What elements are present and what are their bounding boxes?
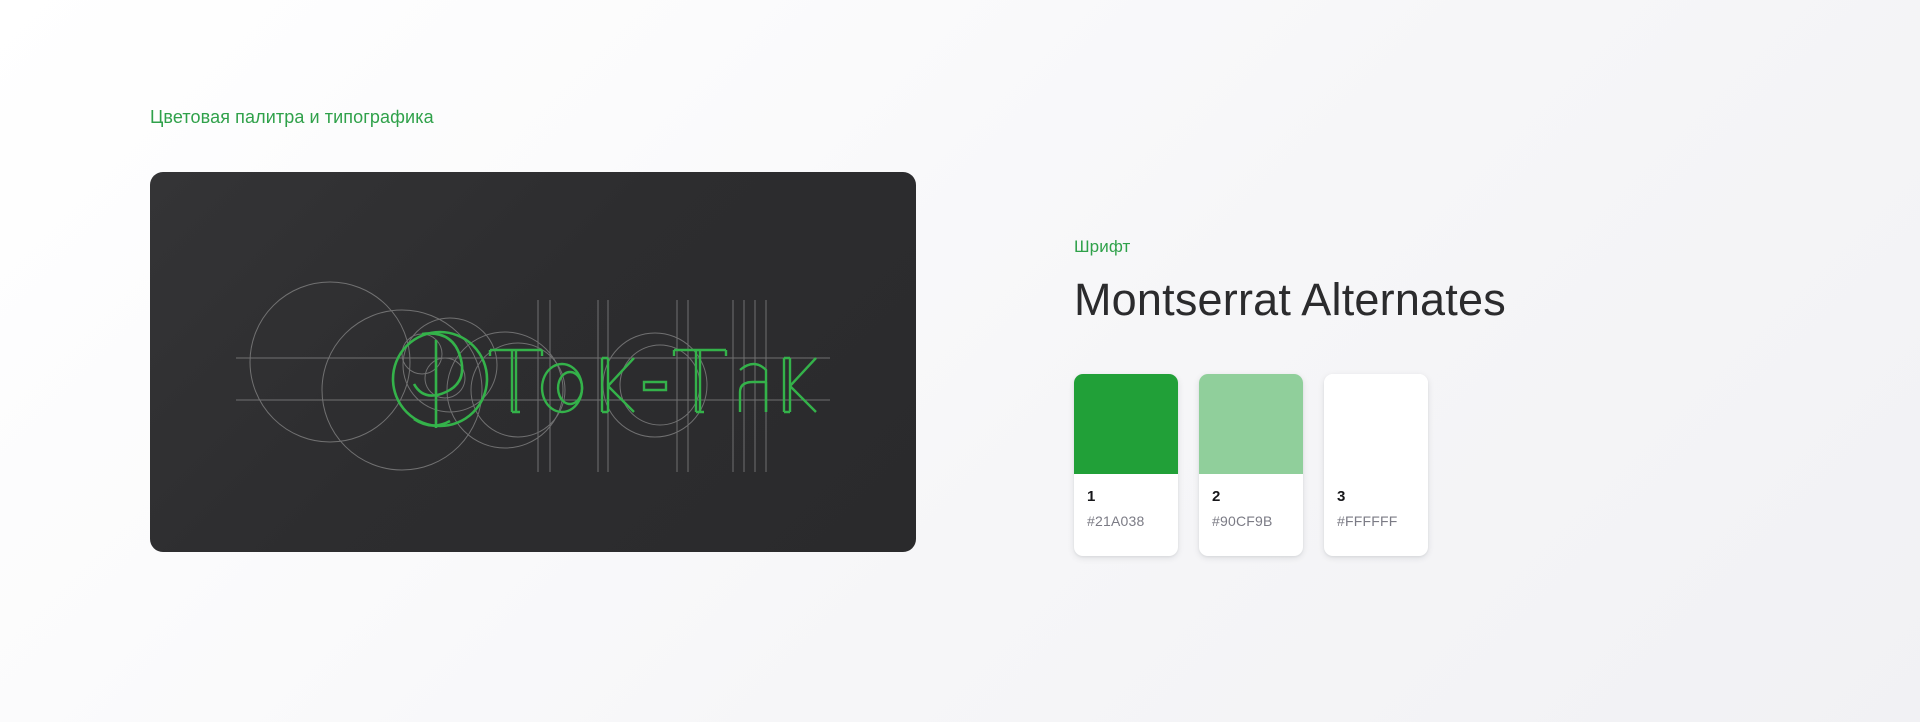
color-swatch-hex: #21A038 — [1087, 513, 1165, 530]
color-swatch-card[interactable]: 2 #90CF9B — [1199, 374, 1303, 556]
font-name: Montserrat Alternates — [1074, 272, 1834, 328]
color-swatch-block — [1074, 374, 1178, 474]
font-label: Шрифт — [1074, 236, 1834, 257]
page-title: Цветовая палитра и типографика — [150, 106, 434, 128]
color-swatch-index: 1 — [1087, 488, 1165, 506]
color-swatch-meta: 3 #FFFFFF — [1324, 474, 1428, 556]
color-swatch-meta: 1 #21A038 — [1074, 474, 1178, 556]
color-swatch-hex: #90CF9B — [1212, 513, 1290, 530]
logo-showcase-panel — [150, 172, 916, 552]
logo-wordmark — [490, 350, 816, 412]
color-swatch-hex: #FFFFFF — [1337, 513, 1415, 530]
construction-guides — [236, 282, 830, 472]
color-swatch-index: 2 — [1212, 488, 1290, 506]
color-swatch-meta: 2 #90CF9B — [1199, 474, 1303, 556]
color-swatch-block — [1324, 374, 1428, 474]
color-swatch-list: 1 #21A038 2 #90CF9B 3 #FFFFFF — [1074, 374, 1834, 556]
color-swatch-card[interactable]: 1 #21A038 — [1074, 374, 1178, 556]
color-swatch-card[interactable]: 3 #FFFFFF — [1324, 374, 1428, 556]
typography-palette-column: Шрифт Montserrat Alternates 1 #21A038 2 … — [1074, 236, 1834, 556]
logo-construction-artwork — [150, 172, 916, 552]
color-swatch-index: 3 — [1337, 488, 1415, 506]
color-swatch-block — [1199, 374, 1303, 474]
